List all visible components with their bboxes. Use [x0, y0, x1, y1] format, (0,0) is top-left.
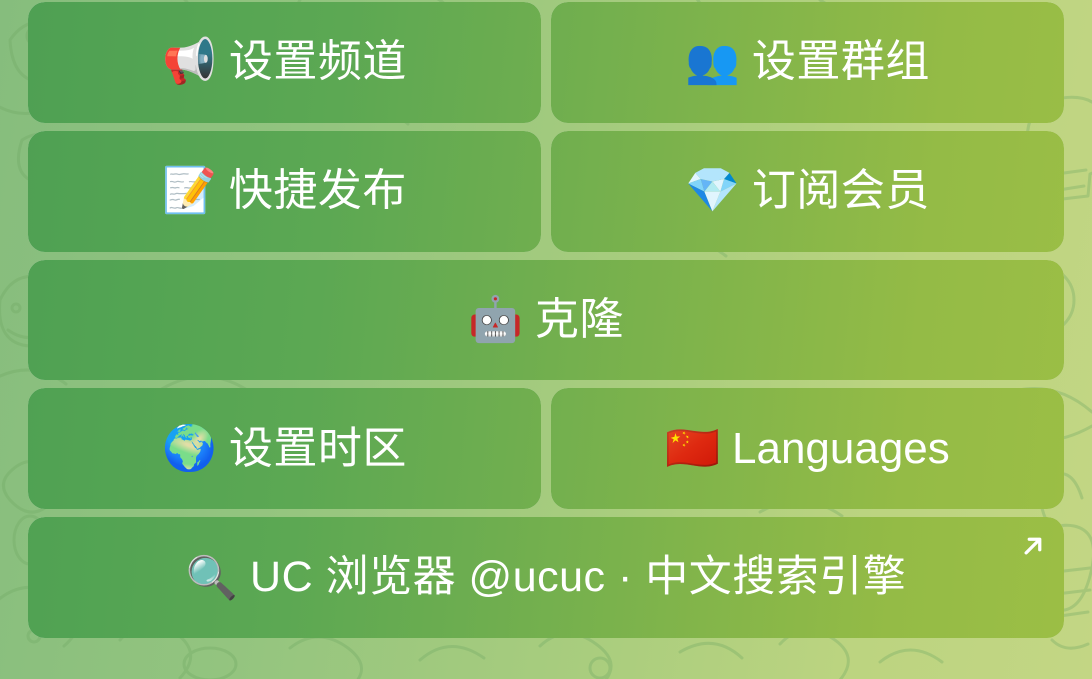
button-label: 订阅会员 — [752, 168, 930, 214]
button-content: 📝 快捷发布 — [162, 168, 407, 214]
button-content: 💎 订阅会员 — [685, 168, 930, 214]
button-languages[interactable]: 🇨🇳 Languages — [551, 388, 1064, 509]
button-set-channel[interactable]: 📢 设置频道 — [28, 2, 541, 123]
globe-europe-africa-icon: 🌍 — [162, 427, 217, 471]
button-clone[interactable]: 🤖 克隆 — [28, 260, 1064, 381]
button-uc-browser[interactable]: 🔍 UC 浏览器 @ucuc · 中文搜索引擎 — [28, 517, 1064, 638]
button-content: 🇨🇳 Languages — [665, 426, 950, 472]
button-label: 克隆 — [535, 297, 624, 343]
external-link-arrow-icon — [1018, 531, 1048, 561]
button-label: 设置群组 — [752, 39, 930, 85]
button-label: 设置时区 — [229, 426, 407, 472]
gem-stone-icon: 💎 — [685, 169, 740, 213]
button-content: 🔍 UC 浏览器 @ucuc · 中文搜索引擎 — [186, 555, 907, 600]
button-label: 快捷发布 — [229, 168, 407, 214]
bot-reply-keyboard: 📢 设置频道 👥 设置群组 📝 快捷发布 💎 订阅会员 — [0, 0, 1092, 679]
button-content: 👥 设置群组 — [685, 39, 930, 85]
button-label: 设置频道 — [229, 39, 407, 85]
memo-icon: 📝 — [162, 169, 217, 213]
keyboard-row-5: 🔍 UC 浏览器 @ucuc · 中文搜索引擎 — [28, 517, 1064, 638]
button-label: UC 浏览器 @ucuc · 中文搜索引擎 — [250, 555, 906, 600]
busts-in-silhouette-icon: 👥 — [685, 40, 740, 84]
button-label: Languages — [732, 426, 950, 472]
button-content: 📢 设置频道 — [162, 39, 407, 85]
flag-china-icon: 🇨🇳 — [665, 427, 720, 471]
magnifying-glass-icon: 🔍 — [186, 557, 238, 599]
button-content: 🤖 克隆 — [468, 297, 624, 343]
button-content: 🌍 设置时区 — [162, 426, 407, 472]
robot-icon: 🤖 — [468, 298, 523, 342]
keyboard-row-4: 🌍 设置时区 🇨🇳 Languages — [28, 388, 1064, 509]
button-set-group[interactable]: 👥 设置群组 — [551, 2, 1064, 123]
button-set-timezone[interactable]: 🌍 设置时区 — [28, 388, 541, 509]
loudspeaker-icon: 📢 — [162, 40, 217, 84]
keyboard-row-1: 📢 设置频道 👥 设置群组 — [28, 2, 1064, 123]
keyboard-row-2: 📝 快捷发布 💎 订阅会员 — [28, 131, 1064, 252]
button-quick-publish[interactable]: 📝 快捷发布 — [28, 131, 541, 252]
keyboard-row-3: 🤖 克隆 — [28, 260, 1064, 381]
button-subscribe-member[interactable]: 💎 订阅会员 — [551, 131, 1064, 252]
